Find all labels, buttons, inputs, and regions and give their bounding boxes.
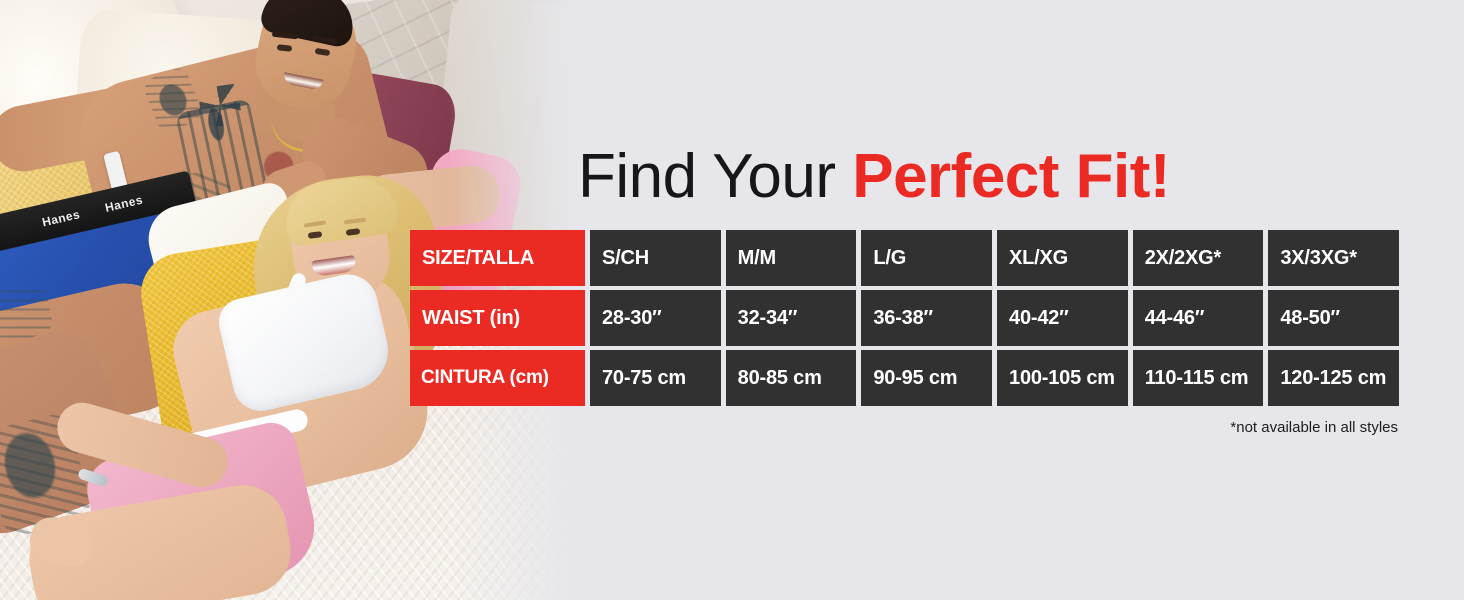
- size-chart-banner: Hanes Hanes: [0, 0, 1464, 600]
- size-chart-table: SIZE/TALLA S/CH M/M L/G XL/XG 2X/2XG* 3X…: [410, 230, 1399, 406]
- cell-waist-l: 36-38″: [861, 290, 992, 346]
- table-row: SIZE/TALLA S/CH M/M L/G XL/XG 2X/2XG* 3X…: [410, 230, 1399, 286]
- cell-waist-xl: 40-42″: [997, 290, 1128, 346]
- row-label-size: SIZE/TALLA: [410, 230, 585, 286]
- table-row: WAIST (in) 28-30″ 32-34″ 36-38″ 40-42″ 4…: [410, 290, 1399, 346]
- cell-size-2x: 2X/2XG*: [1133, 230, 1264, 286]
- cell-waist-m: 32-34″: [726, 290, 857, 346]
- cell-waist-2x: 44-46″: [1133, 290, 1264, 346]
- cell-size-3x: 3X/3XG*: [1268, 230, 1399, 286]
- waistband-brand-text: Hanes: [41, 207, 82, 229]
- table-row: CINTURA (cm) 70-75 cm 80-85 cm 90-95 cm …: [410, 350, 1399, 406]
- cell-cintura-l: 90-95 cm: [861, 350, 992, 406]
- cell-cintura-s: 70-75 cm: [590, 350, 721, 406]
- row-label-cintura-cm: CINTURA (cm): [410, 350, 585, 406]
- cell-size-s: S/CH: [590, 230, 721, 286]
- footnote-text: *not available in all styles: [1230, 419, 1398, 436]
- waistband-brand-text-2: Hanes: [104, 193, 145, 215]
- cell-waist-s: 28-30″: [590, 290, 721, 346]
- cell-size-xl: XL/XG: [997, 230, 1128, 286]
- cell-waist-3x: 48-50″: [1268, 290, 1399, 346]
- cell-size-m: M/M: [726, 230, 857, 286]
- row-label-waist-in: WAIST (in): [410, 290, 585, 346]
- cell-cintura-xl: 100-105 cm: [997, 350, 1128, 406]
- cell-cintura-3x: 120-125 cm: [1268, 350, 1399, 406]
- headline-thin-text: Find Your: [578, 142, 852, 211]
- page-title: Find Your Perfect Fit!: [578, 146, 1170, 208]
- cell-cintura-m: 80-85 cm: [726, 350, 857, 406]
- cell-size-l: L/G: [861, 230, 992, 286]
- headline-bold-text: Perfect Fit!: [852, 142, 1170, 211]
- cell-cintura-2x: 110-115 cm: [1133, 350, 1264, 406]
